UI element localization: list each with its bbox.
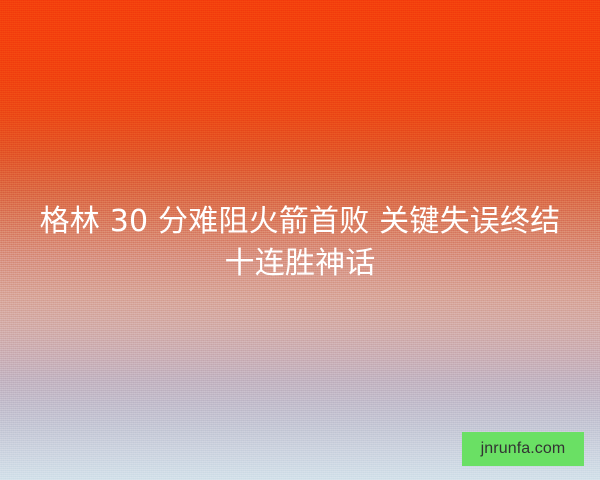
headline-text: 格林 30 分难阻火箭首败 关键失误终结十连胜神话 (0, 201, 600, 285)
promo-banner: 格林 30 分难阻火箭首败 关键失误终结十连胜神话 jnrunfa.com (0, 0, 600, 480)
watermark-badge[interactable]: jnrunfa.com (462, 432, 584, 466)
watermark-label: jnrunfa.com (481, 441, 566, 457)
